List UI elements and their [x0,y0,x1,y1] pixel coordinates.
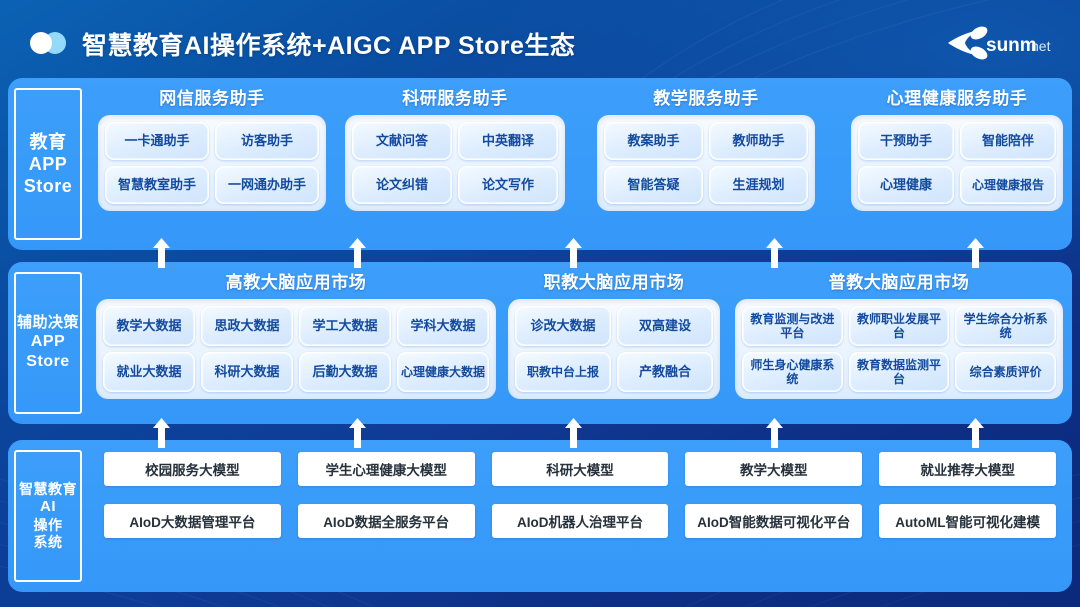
arrow-up-icon [967,418,984,448]
app-card[interactable]: 干预助手 [858,122,954,160]
platform-row: AIoD大数据管理平台 AIoD数据全服务平台 AIoD机器人治理平台 AIoD… [104,504,1056,538]
app-card[interactable]: 论文写作 [458,166,558,204]
infographic-page: 智慧教育AI操作系统+AIGC APP Store生态 sunm net 教育 … [0,0,1080,607]
app-card[interactable]: 学科大数据 [397,306,489,346]
arrow-up-icon [349,418,366,448]
platform-chip[interactable]: AIoD数据全服务平台 [298,504,475,538]
app-card[interactable]: 产教融合 [617,352,713,392]
app-card[interactable]: 教师职业发展平台 [849,306,950,346]
app-card[interactable]: 后勤大数据 [299,352,391,392]
app-card[interactable]: 心理健康报告 [960,166,1056,204]
group-network-info-assistant: 网信服务助手 一卡通助手 访客助手 智慧教室助手 一网通办助手 [98,84,326,211]
platform-chip[interactable]: AIoD智能数据可视化平台 [685,504,862,538]
group-vocational-education-brain-market: 职教大脑应用市场 诊改大数据 双高建设 职教中台上报 产教融合 [508,268,720,399]
app-card[interactable]: 科研大数据 [201,352,293,392]
app-card[interactable]: 访客助手 [215,122,319,160]
app-card[interactable]: 就业大数据 [103,352,195,392]
app-card[interactable]: 综合素质评价 [955,352,1056,392]
app-card[interactable]: 文献问答 [352,122,452,160]
platform-chip[interactable]: AIoD机器人治理平台 [492,504,669,538]
app-card[interactable]: 教案助手 [604,122,703,160]
model-chip[interactable]: 就业推荐大模型 [879,452,1056,486]
app-card[interactable]: 教师助手 [709,122,808,160]
group-panel: 一卡通助手 访客助手 智慧教室助手 一网通办助手 [98,115,326,211]
arrow-up-icon [766,238,783,268]
svg-text:net: net [1031,38,1051,54]
app-card[interactable]: 智慧教室助手 [105,166,209,204]
sunm-swoosh-icon: sunm net [946,26,1056,60]
group-teaching-service-assistant: 教学服务助手 教案助手 教师助手 智能答疑 生涯规划 [597,84,815,211]
group-panel: 教案助手 教师助手 智能答疑 生涯规划 [597,115,815,211]
brand-logo: sunm net [946,26,1056,60]
ai-os-rows: 校园服务大模型 学生心理健康大模型 科研大模型 教学大模型 就业推荐大模型 AI… [104,452,1056,538]
arrow-up-icon [153,238,170,268]
arrow-up-icon [766,418,783,448]
app-card[interactable]: 师生身心健康系统 [742,352,843,392]
app-card[interactable]: 一卡通助手 [105,122,209,160]
app-card[interactable]: 中英翻译 [458,122,558,160]
app-card[interactable]: 教育数据监测平台 [849,352,950,392]
group-mental-health-service-assistant: 心理健康服务助手 干预助手 智能陪伴 心理健康 心理健康报告 [851,84,1063,211]
arrow-up-icon [565,238,582,268]
model-chip[interactable]: 校园服务大模型 [104,452,281,486]
app-card[interactable]: 一网通办助手 [215,166,319,204]
arrow-up-icon [153,418,170,448]
app-card[interactable]: 学工大数据 [299,306,391,346]
page-title: 智慧教育AI操作系统+AIGC APP Store生态 [82,26,575,62]
group-panel: 诊改大数据 双高建设 职教中台上报 产教融合 [508,299,720,399]
two-circles-logo [30,32,74,54]
app-card[interactable]: 诊改大数据 [515,306,611,346]
group-panel: 教育监测与改进平台 教师职业发展平台 学生综合分析系统 师生身心健康系统 教育数… [735,299,1063,399]
large-model-row: 校园服务大模型 学生心理健康大模型 科研大模型 教学大模型 就业推荐大模型 [104,452,1056,486]
sidebar-label-education-app-store[interactable]: 教育 APP Store [14,88,82,240]
app-card[interactable]: 教育监测与改进平台 [742,306,843,346]
app-card[interactable]: 智能陪伴 [960,122,1056,160]
sidebar-label-decision-support-app-store[interactable]: 辅助决策 APP Store [14,272,82,414]
sidebar-label-ai-operating-system[interactable]: 智慧教育 AI 操作 系统 [14,450,82,582]
page-header: 智慧教育AI操作系统+AIGC APP Store生态 sunm net [0,0,1080,74]
model-chip[interactable]: 教学大模型 [685,452,862,486]
app-card[interactable]: 生涯规划 [709,166,808,204]
group-higher-education-brain-market: 高教大脑应用市场 教学大数据 思政大数据 学工大数据 学科大数据 就业大数据 科… [96,268,496,399]
group-general-education-brain-market: 普教大脑应用市场 教育监测与改进平台 教师职业发展平台 学生综合分析系统 师生身… [735,268,1063,399]
group-research-service-assistant: 科研服务助手 文献问答 中英翻译 论文纠错 论文写作 [345,84,565,211]
app-card[interactable]: 心理健康大数据 [397,352,489,392]
arrow-up-icon [565,418,582,448]
app-card[interactable]: 双高建设 [617,306,713,346]
svg-text:sunm: sunm [986,35,1037,56]
model-chip[interactable]: 科研大模型 [492,452,669,486]
platform-chip[interactable]: AIoD大数据管理平台 [104,504,281,538]
app-card[interactable]: 心理健康 [858,166,954,204]
model-chip[interactable]: 学生心理健康大模型 [298,452,475,486]
app-card[interactable]: 论文纠错 [352,166,452,204]
group-panel: 文献问答 中英翻译 论文纠错 论文写作 [345,115,565,211]
app-card[interactable]: 职教中台上报 [515,352,611,392]
arrow-up-icon [349,238,366,268]
group-panel: 教学大数据 思政大数据 学工大数据 学科大数据 就业大数据 科研大数据 后勤大数… [96,299,496,399]
arrow-up-icon [967,238,984,268]
platform-chip[interactable]: AutoML智能可视化建模 [879,504,1056,538]
app-card[interactable]: 思政大数据 [201,306,293,346]
app-card[interactable]: 学生综合分析系统 [955,306,1056,346]
group-panel: 干预助手 智能陪伴 心理健康 心理健康报告 [851,115,1063,211]
app-card[interactable]: 教学大数据 [103,306,195,346]
app-card[interactable]: 智能答疑 [604,166,703,204]
